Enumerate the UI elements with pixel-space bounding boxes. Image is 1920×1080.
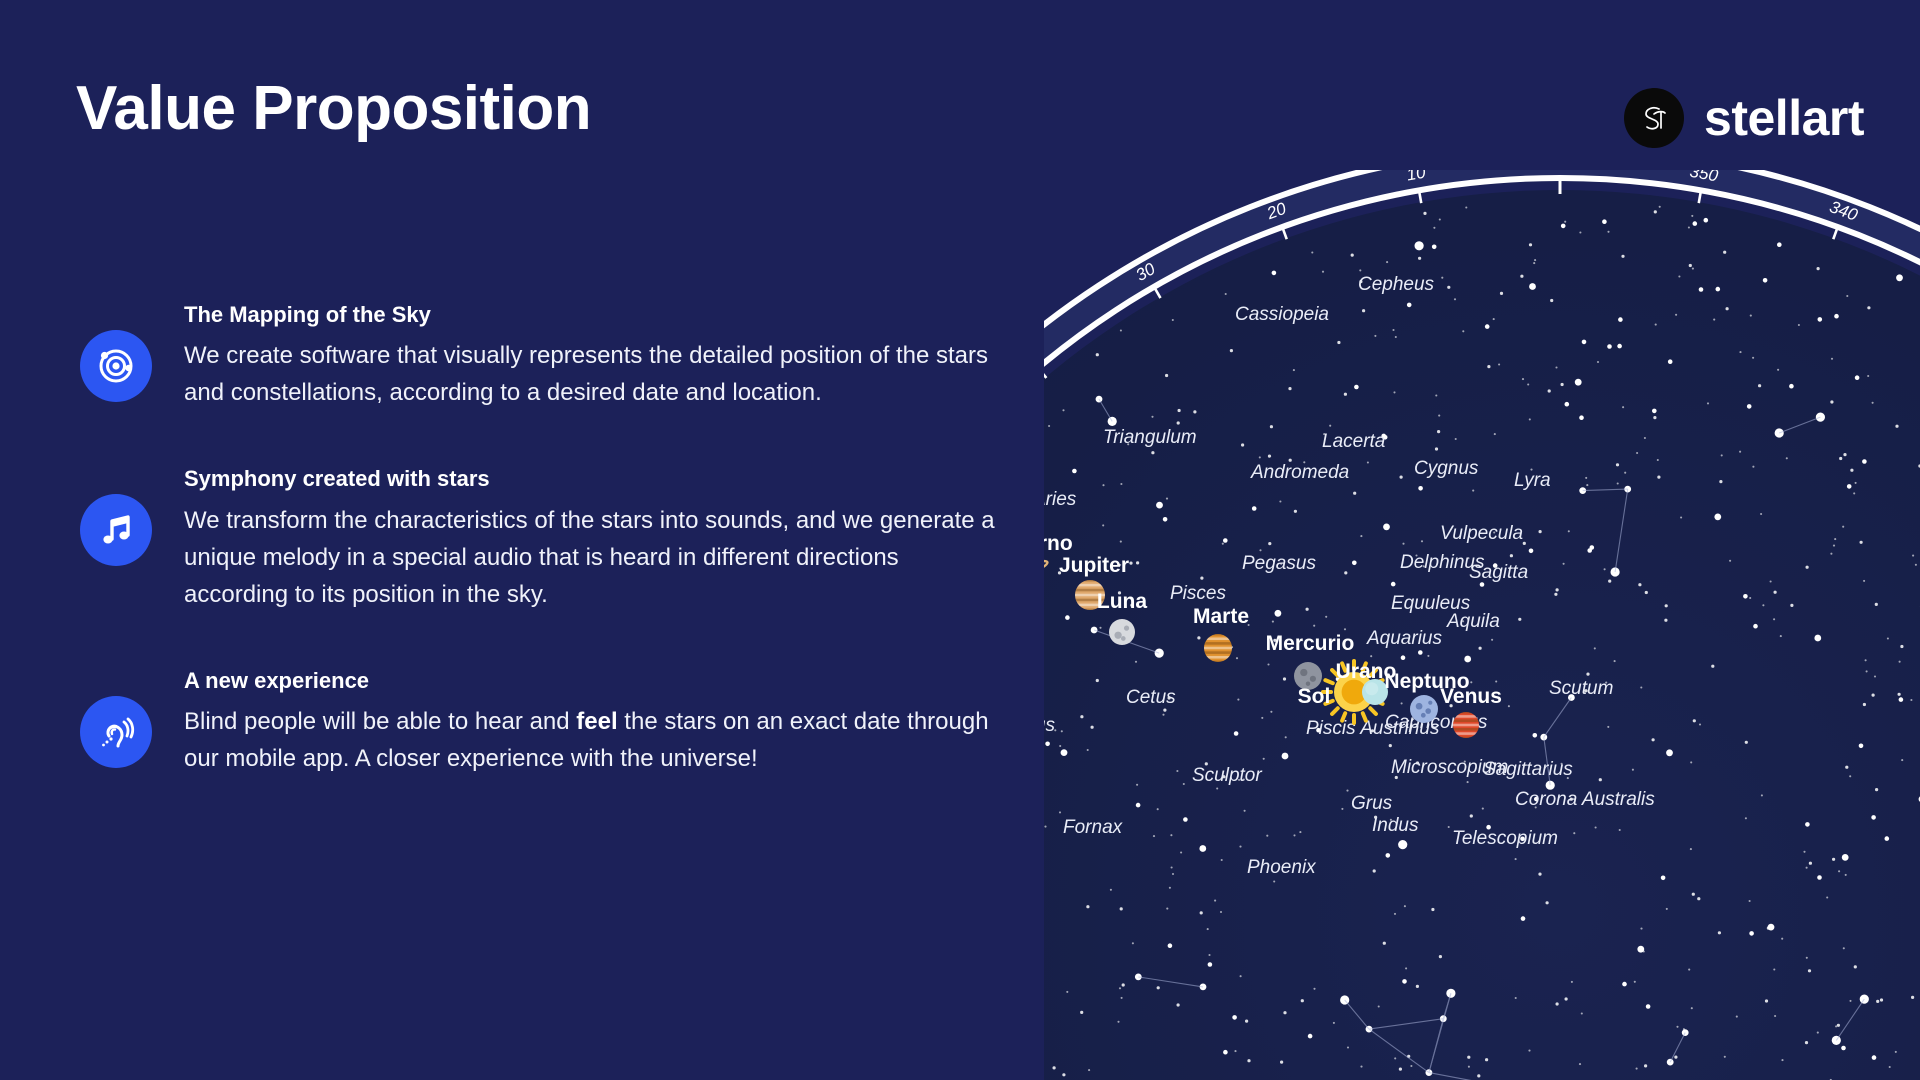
feature-item-mapping-of-the-sky: The Mapping of the Sky We create softwar… <box>80 300 1000 412</box>
constellation-label: Aquarius <box>1366 628 1442 649</box>
planet-neptuno[interactable] <box>1410 695 1438 723</box>
constellation-label: Corona Australis <box>1515 789 1655 810</box>
planet-label-jupiter: Jupiter <box>1059 554 1129 577</box>
constellation-label: Grus <box>1351 793 1393 814</box>
feature-body: Blind people will be able to hear and fe… <box>184 704 1000 778</box>
constellation-label: Triangulum <box>1103 427 1197 448</box>
planet-label-mercurio: Mercurio <box>1266 632 1355 655</box>
planet-mercurio[interactable] <box>1294 662 1322 690</box>
constellation-label: Cygnus <box>1414 458 1479 479</box>
planet-label-marte: Marte <box>1193 605 1249 628</box>
constellation-label: Scutum <box>1549 678 1613 699</box>
constellation-label: Cetus <box>1126 687 1176 708</box>
brand-name: stellart <box>1704 89 1864 147</box>
planet-label-neptuno: Neptuno <box>1384 670 1469 693</box>
constellation-label: Capricornus <box>1385 712 1488 733</box>
constellation-label: Pegasus <box>1242 553 1316 574</box>
constellation-label: Piscis Austrinus <box>1306 718 1440 739</box>
feature-list: The Mapping of the Sky We create softwar… <box>80 300 1000 830</box>
feature-heading: The Mapping of the Sky <box>184 302 1000 328</box>
planet-marte[interactable] <box>1204 633 1232 663</box>
feature-body: We transform the characteristics of the … <box>184 503 1000 614</box>
constellation-label: Cassiopeia <box>1235 304 1329 325</box>
feature-body-emphasis: feel <box>576 708 617 735</box>
planet-saturno[interactable] <box>1044 557 1049 583</box>
stellart-monogram-icon <box>1624 88 1684 148</box>
ring-cardinal-label: N <box>1551 170 1570 171</box>
constellation-label: Andromeda <box>1250 462 1349 483</box>
constellation-label: Cepheus <box>1358 274 1435 295</box>
constellation-label: Microscopium <box>1391 757 1508 778</box>
feature-item-a-new-experience: A new experience Blind people will be ab… <box>80 666 1000 778</box>
planet-venus[interactable] <box>1453 711 1479 739</box>
planet-jupiter[interactable] <box>1075 579 1105 611</box>
planet-urano[interactable] <box>1362 679 1388 705</box>
page-title: Value Proposition <box>76 78 591 140</box>
assistive-listening-ear-icon <box>80 696 152 768</box>
constellation-label: Fornax <box>1063 817 1124 838</box>
planet-label-saturno: Saturno <box>1044 532 1073 555</box>
sky-map[interactable]: 1020304050607080100110340350NECepheusCas… <box>1044 170 1920 1080</box>
constellation-label: Lyra <box>1514 470 1551 491</box>
constellation-label: Vulpecula <box>1440 523 1523 544</box>
planet-label-sol: Sol <box>1298 685 1331 708</box>
feature-body: We create software that visually represe… <box>184 338 1000 412</box>
planet-label-urano: Urano <box>1336 660 1397 683</box>
constellation-label: Sagitta <box>1469 562 1528 583</box>
feature-heading: A new experience <box>184 668 1000 694</box>
constellation-label: Aries <box>1044 489 1077 510</box>
constellation-label: Sculptor <box>1192 765 1262 786</box>
planet-label-luna: Luna <box>1097 590 1147 613</box>
constellation-label: Telescopium <box>1452 828 1558 849</box>
ring-degree-label: 10 <box>1405 170 1427 185</box>
planet-luna[interactable] <box>1109 619 1135 645</box>
constellation-label: Indus <box>1372 815 1419 836</box>
planet-sol[interactable] <box>1323 661 1385 723</box>
ring-degree-label: 350 <box>1688 170 1720 185</box>
ring-degree-label: 20 <box>1263 199 1289 224</box>
constellation-label: Lacerta <box>1322 431 1385 452</box>
constellation-label: Equuleus <box>1391 593 1471 614</box>
planet-label-venus: Venus <box>1440 685 1502 708</box>
constellation-label: Delphinus <box>1400 552 1485 573</box>
feature-item-symphony-created-with-stars: Symphony created with stars We transform… <box>80 464 1000 613</box>
feature-body-part: Blind people will be able to hear and <box>184 708 576 735</box>
music-note-icon <box>80 494 152 566</box>
constellation-label: Eridanus <box>1044 715 1055 736</box>
constellation-label: Sagittarius <box>1483 759 1573 780</box>
ring-degree-label: 30 <box>1133 259 1159 285</box>
constellation-label: Pisces <box>1170 583 1226 604</box>
orbit-icon <box>80 330 152 402</box>
ring-degree-label: 340 <box>1827 197 1861 225</box>
constellation-label: Phoenix <box>1247 857 1317 878</box>
feature-heading: Symphony created with stars <box>184 466 1000 492</box>
brand-logo[interactable]: stellart <box>1624 88 1864 148</box>
constellation-label: Aquila <box>1446 611 1500 632</box>
